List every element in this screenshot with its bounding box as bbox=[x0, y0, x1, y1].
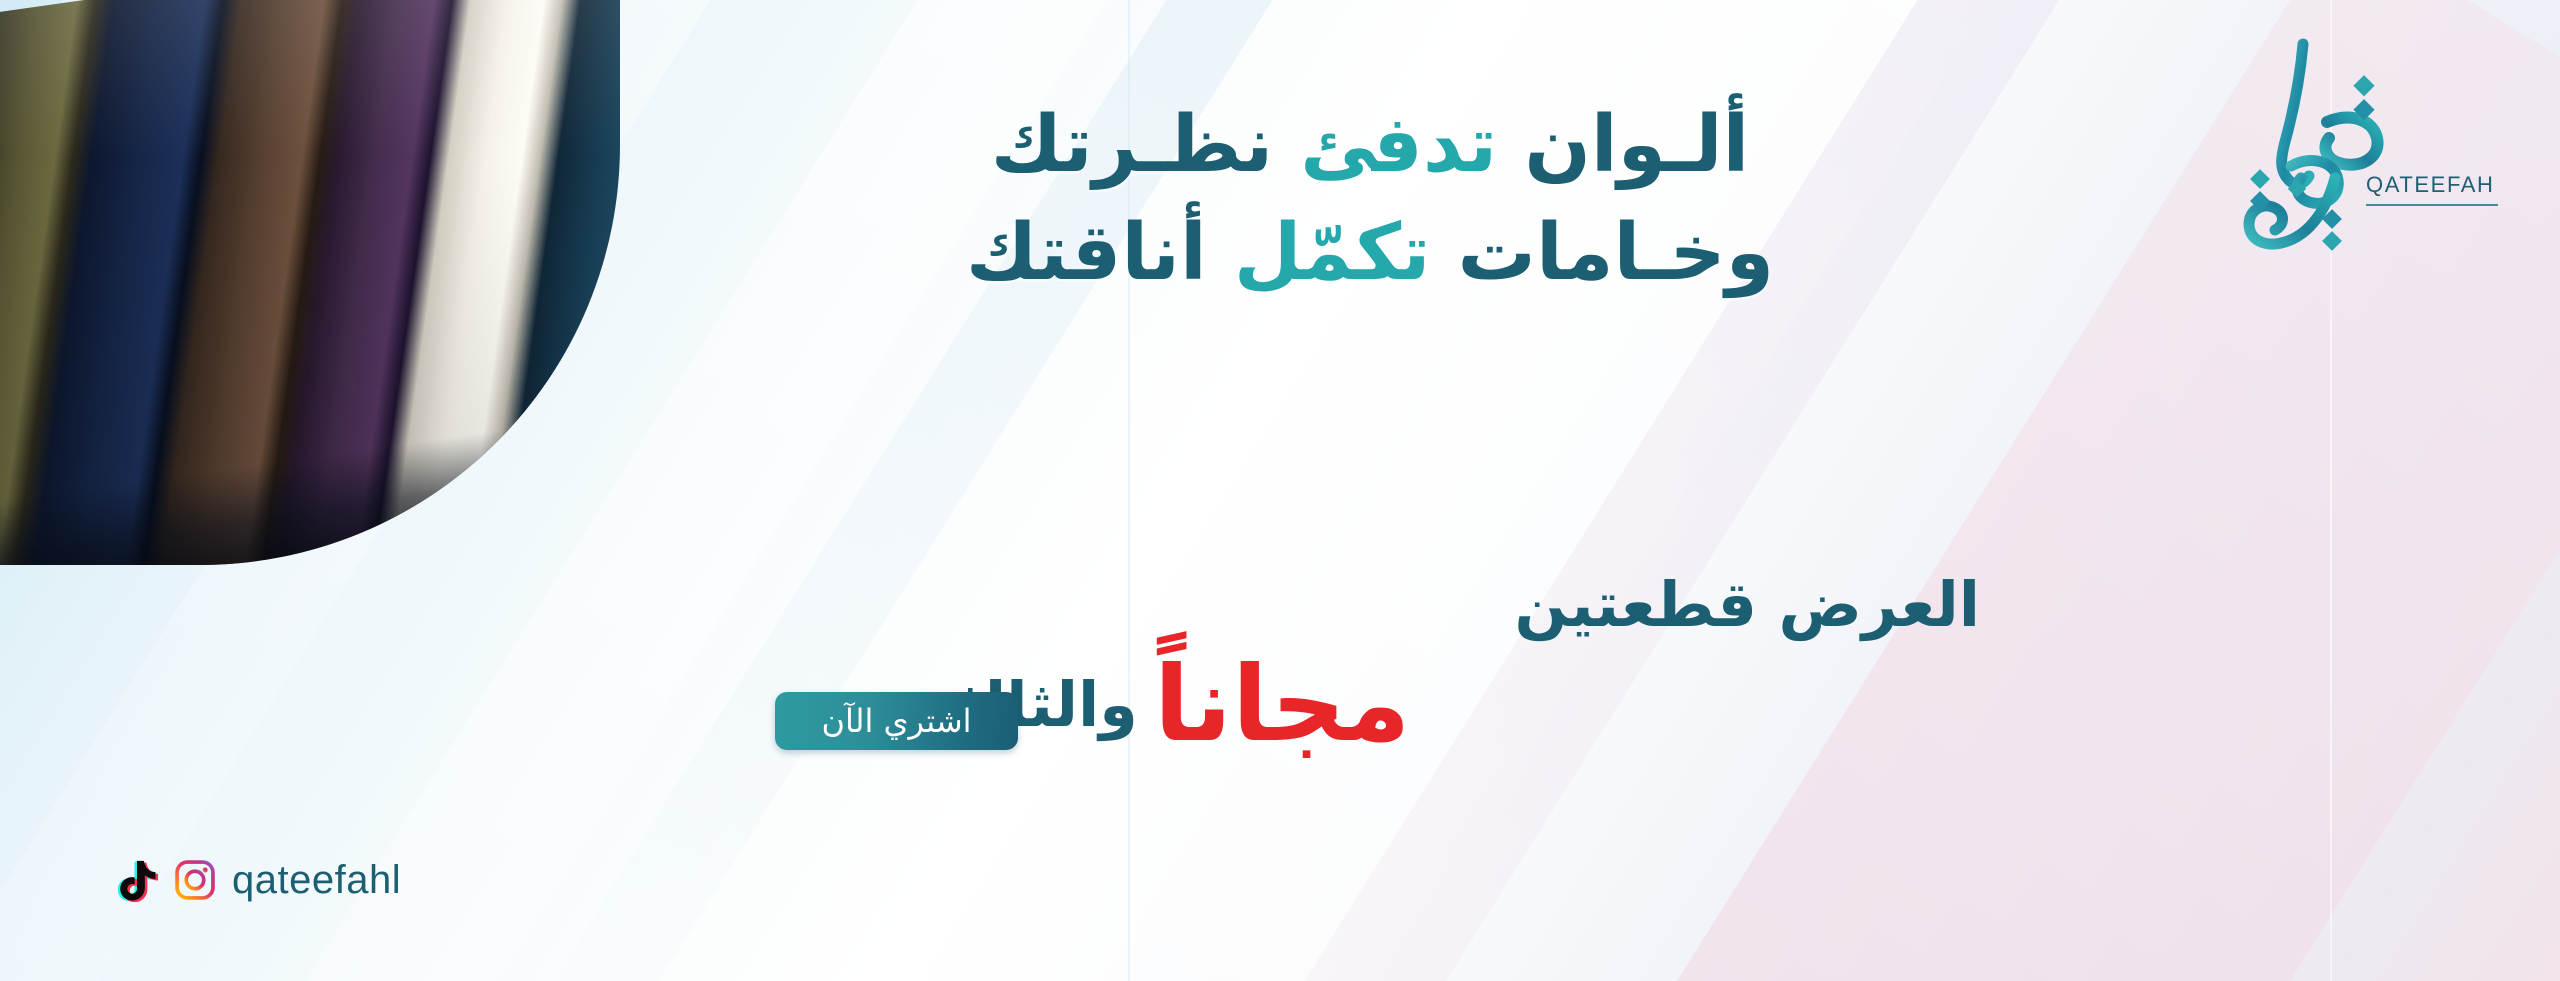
social-handles: qateefahl bbox=[118, 858, 401, 902]
brand-wordmark-underline bbox=[2366, 204, 2498, 206]
offer-block: العرض قطعتين مجاناً والثالثه bbox=[920, 570, 2020, 741]
headline-line1-part2: نظـرتك bbox=[991, 100, 1301, 190]
headline-line-2: وخـامات تكمّل أناقتك bbox=[660, 200, 2080, 308]
headline-line-1: ألـوان تدفئ نظـرتك bbox=[660, 92, 2080, 200]
promotional-banner: QATEEFAH ألـوان تدفئ نظـرتك وخـامات تكمّ… bbox=[0, 0, 2560, 981]
tiktok-icon[interactable] bbox=[118, 858, 158, 902]
offer-line-2: مجاناً والثالثه bbox=[920, 641, 2020, 741]
instagram-icon[interactable] bbox=[174, 859, 216, 901]
qateefah-calligraphy-mark bbox=[2231, 26, 2426, 266]
fabric-rolls-photo bbox=[0, 0, 620, 565]
headline: ألـوان تدفئ نظـرتك وخـامات تكمّل أناقتك bbox=[660, 92, 2080, 307]
headline-line2-part2: أناقتك bbox=[966, 208, 1234, 298]
brand-wordmark-text: QATEEFAH bbox=[2366, 172, 2516, 198]
social-handle-text[interactable]: qateefahl bbox=[232, 860, 401, 900]
headline-line1-part1: ألـوان bbox=[1497, 100, 1749, 190]
headline-line2-part1: وخـامات bbox=[1430, 208, 1774, 298]
brand-logo[interactable]: QATEEFAH bbox=[2224, 22, 2524, 272]
buy-now-label: اشتري الآن bbox=[821, 702, 971, 740]
offer-free-word: مجاناً bbox=[1154, 655, 1411, 754]
headline-line2-accent: تكمّل bbox=[1234, 208, 1431, 298]
offer-line-1: العرض قطعتين bbox=[920, 570, 2020, 639]
photo-sheen-overlay bbox=[0, 0, 620, 565]
headline-line1-accent: تدفئ bbox=[1300, 100, 1497, 190]
buy-now-button[interactable]: اشتري الآن bbox=[775, 692, 1018, 750]
brand-wordmark: QATEEFAH bbox=[2366, 172, 2516, 206]
